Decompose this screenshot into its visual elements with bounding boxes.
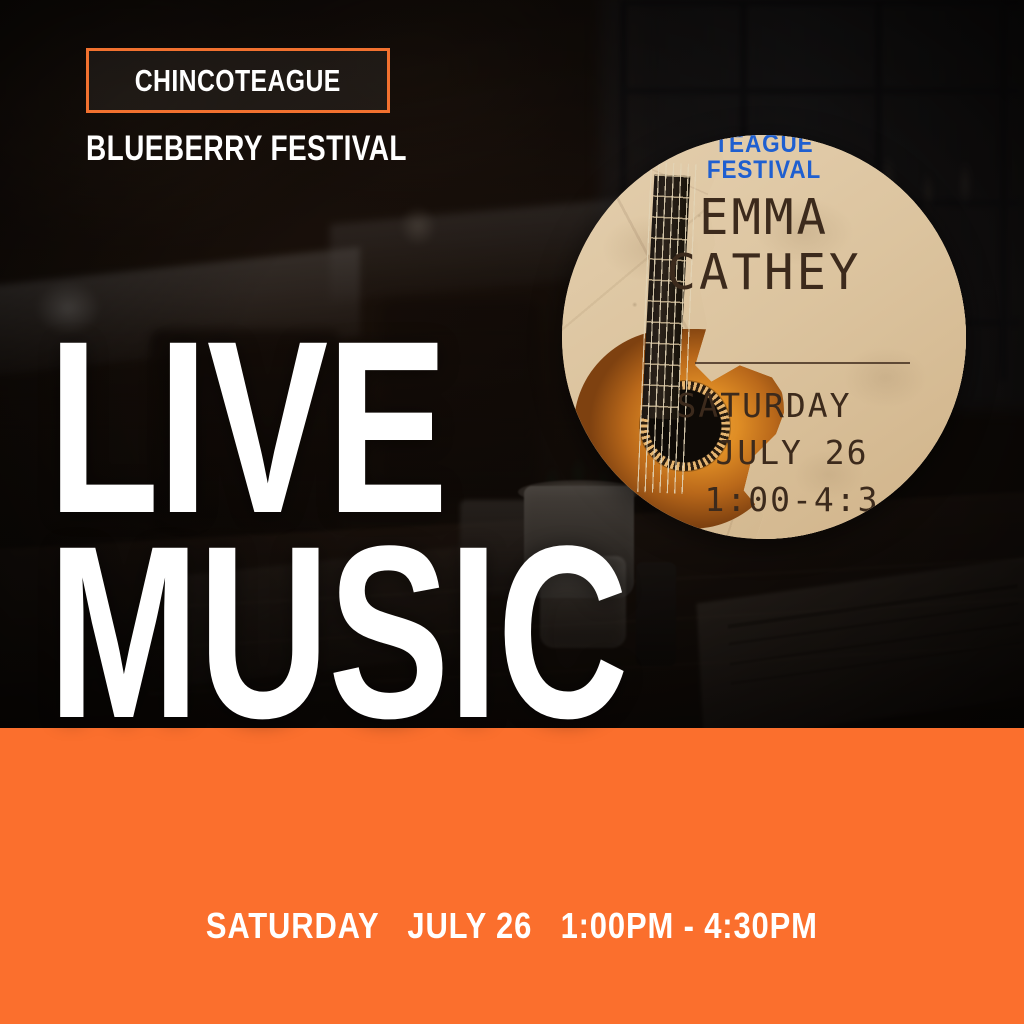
artist-name: EMMA CATHEY [562, 191, 966, 301]
festival-name-box: CHINCOTEAGUE [86, 48, 390, 113]
circle-divider-rule [695, 362, 910, 364]
circle-festival-line-1: TEAGUE [582, 135, 946, 157]
festival-subtitle: BLUEBERRY FESTIVAL [86, 129, 407, 169]
artist-first-name: EMMA [562, 191, 966, 246]
festival-name-text: CHINCOTEAGUE [135, 63, 341, 99]
circle-date: JULY 26 [562, 430, 966, 477]
footer-details: SATURDAY JULY 26 1:00PM - 4:30PM [0, 905, 1024, 947]
circle-festival-label: TEAGUE FESTIVAL [582, 135, 946, 184]
circle-day: SATURDAY [562, 383, 966, 430]
orange-footer-band [0, 728, 1024, 1024]
headline-line-2: MUSIC [48, 535, 627, 732]
event-poster: CHINCOTEAGUE BLUEBERRY FESTIVAL LIVE MUS… [0, 0, 1024, 1024]
circular-artist-poster: TEAGUE FESTIVAL EMMA CATHEY SATURDAY JUL… [562, 135, 966, 539]
circle-festival-line-2: FESTIVAL [582, 157, 946, 183]
circle-date-block: SATURDAY JULY 26 1:00-4:3 [562, 383, 966, 524]
header-block: CHINCOTEAGUE BLUEBERRY FESTIVAL [86, 48, 487, 169]
artist-last-name: CATHEY [562, 246, 966, 301]
circle-time: 1:00-4:3 [562, 477, 966, 524]
footer-text: SATURDAY JULY 26 1:00PM - 4:30PM [206, 905, 818, 947]
